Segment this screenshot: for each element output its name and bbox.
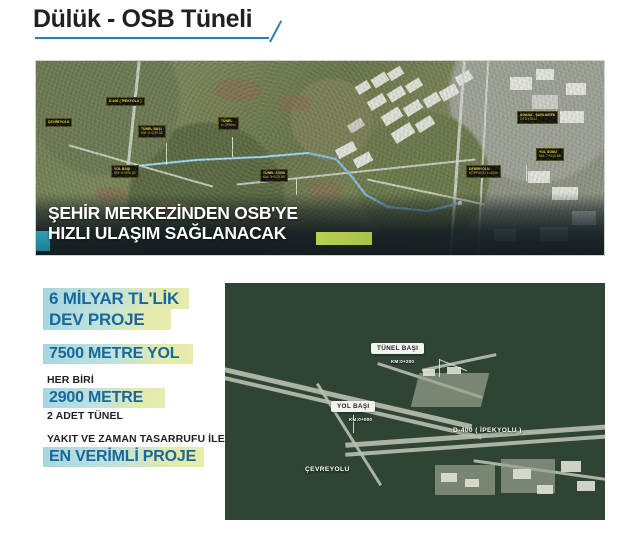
stat-efficiency-label: YAKIT VE ZAMAN TASARRUFU İLE [47, 433, 228, 446]
stat-budget-line1: 6 MİLYAR TL'LİK [43, 288, 189, 309]
tunnel-route-aerial-map: D-400 ( İPEKYOLU ) ÇEVREYOLU TÜNEL BAŞI … [35, 60, 605, 256]
photo-label-tunel-basi: TÜNEL BAŞI [371, 343, 424, 354]
photo-label-cevreyolu: ÇEVREYOLU [305, 466, 350, 473]
building-block [577, 481, 595, 491]
tunnel-entrance-aerial-photo: TÜNEL BAŞI KM:0+200 YOL BAŞI KM:0+000 D-… [225, 283, 605, 520]
stat-item-budget: 6 MİLYAR TL'LİK DEV PROJE [43, 288, 228, 330]
stat-budget-line2: DEV PROJE [43, 309, 171, 330]
spacer [43, 424, 228, 433]
photo-sublabel-yol-basi: KM:0+000 [349, 417, 372, 422]
stat-item-efficiency: YAKIT VE ZAMAN TASARRUFU İLE EN VERİMLİ … [43, 433, 228, 467]
building-block [465, 479, 479, 487]
stat-tunnel-value-text: 2900 METRE [49, 389, 143, 406]
title-underline [35, 37, 269, 39]
portal-structure [423, 369, 435, 376]
building-block [561, 461, 581, 472]
stat-item-road-length: 7500 METRE YOL [43, 344, 228, 364]
photo-label-text: TÜNEL BAŞI [377, 345, 418, 352]
headline-line-1: ŞEHİR MERKEZİNDEN OSB'YE [48, 204, 298, 224]
headline-accent-green [316, 232, 372, 245]
building-block [537, 485, 553, 494]
headline-line-2: HIZLI ULAŞIM SAĞLANACAK [48, 224, 298, 244]
spacer [43, 330, 228, 344]
stat-budget-line1-text: 6 MİLYAR TL'LİK [49, 289, 179, 308]
stat-tunnel-value: 2900 METRE [43, 388, 165, 408]
title-block: Dülük - OSB Tüneli [33, 4, 333, 48]
page-title: Dülük - OSB Tüneli [33, 4, 333, 34]
project-stats-list: 6 MİLYAR TL'LİK DEV PROJE 7500 METRE YOL… [43, 288, 228, 467]
stat-efficiency-value: EN VERİMLİ PROJE [43, 447, 204, 467]
stat-road-length: 7500 METRE YOL [43, 344, 193, 364]
building-block [441, 473, 457, 482]
photo-label-yol-basi: YOL BAŞI [331, 401, 375, 412]
stat-tunnel-label: HER BİRİ [47, 374, 228, 387]
photo-sublabel-tunel-basi: KM:0+200 [391, 359, 414, 364]
stat-item-tunnel-length: HER BİRİ 2900 METRE 2 ADET TÜNEL [43, 374, 228, 423]
tunnel-portal-cut [411, 373, 489, 407]
stat-efficiency-value-text: EN VERİMLİ PROJE [49, 448, 196, 465]
spacer [43, 364, 228, 374]
stat-road-length-text: 7500 METRE YOL [49, 345, 179, 362]
photo-label-d400: D-400 ( İPEKYOLU ) [453, 427, 522, 434]
map-headline: ŞEHİR MERKEZİNDEN OSB'YE HIZLI ULAŞIM SA… [48, 204, 298, 243]
label-leader-line [439, 359, 440, 377]
stat-budget-line2-text: DEV PROJE [49, 310, 145, 329]
building-block [513, 469, 531, 479]
photo-label-text: YOL BAŞI [337, 403, 369, 410]
stat-tunnel-note: 2 ADET TÜNEL [47, 410, 228, 423]
